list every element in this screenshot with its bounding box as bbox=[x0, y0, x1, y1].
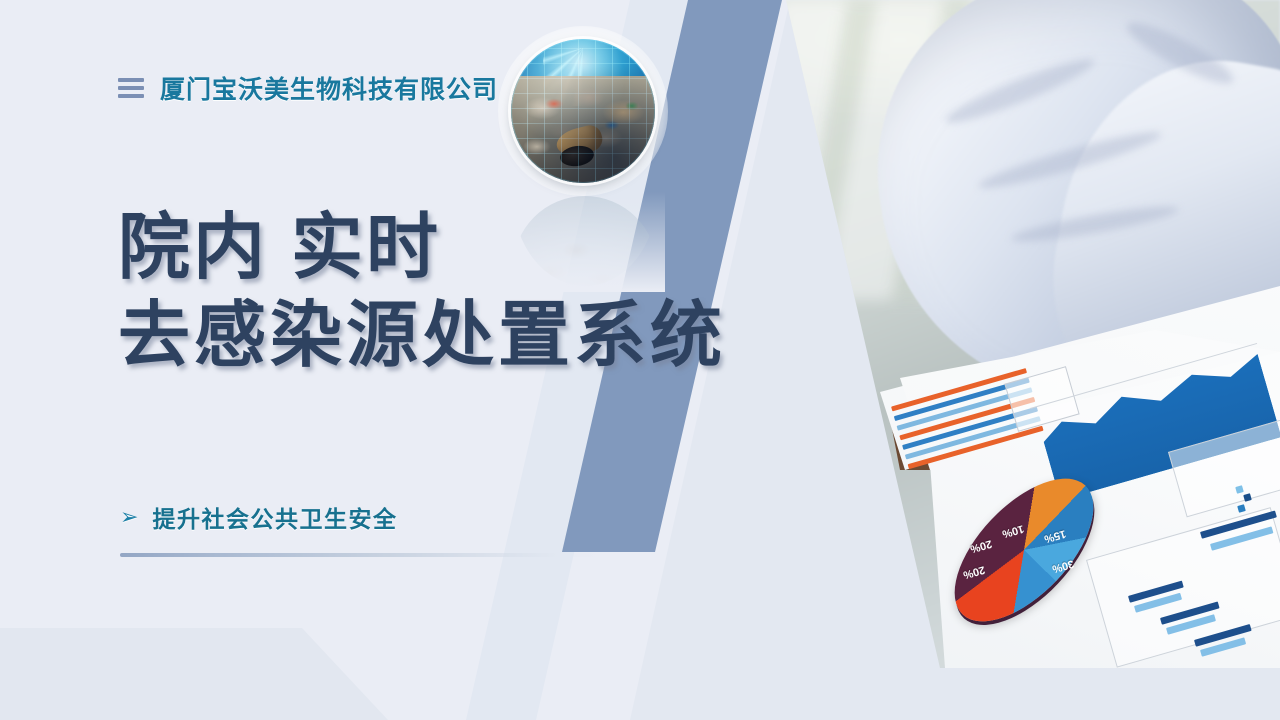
subtitle-text: 提升社会公共卫生安全 bbox=[152, 500, 397, 534]
slide-header: 厦门宝沃美生物科技有限公司 bbox=[118, 70, 498, 106]
presentation-slide: 20% 10% 15% 30% 20% 厦门宝沃美生物科技有限公司 bbox=[0, 0, 1280, 720]
arrow-bullet-icon: ➢ bbox=[120, 506, 138, 528]
hamburger-menu-icon[interactable] bbox=[118, 78, 144, 98]
title-line-2: 去感染源处置系统 bbox=[118, 293, 758, 381]
divider-line bbox=[120, 553, 605, 557]
globe-sphere bbox=[511, 39, 655, 183]
title-line-1: 院内 实时 bbox=[118, 205, 758, 293]
globe-waste-logo bbox=[498, 26, 668, 196]
subtitle-bullet-row: ➢ 提升社会公共卫生安全 bbox=[120, 500, 397, 534]
company-name: 厦门宝沃美生物科技有限公司 bbox=[160, 70, 498, 106]
page-title: 院内 实时 去感染源处置系统 bbox=[118, 205, 758, 381]
globe-shading bbox=[511, 39, 655, 183]
